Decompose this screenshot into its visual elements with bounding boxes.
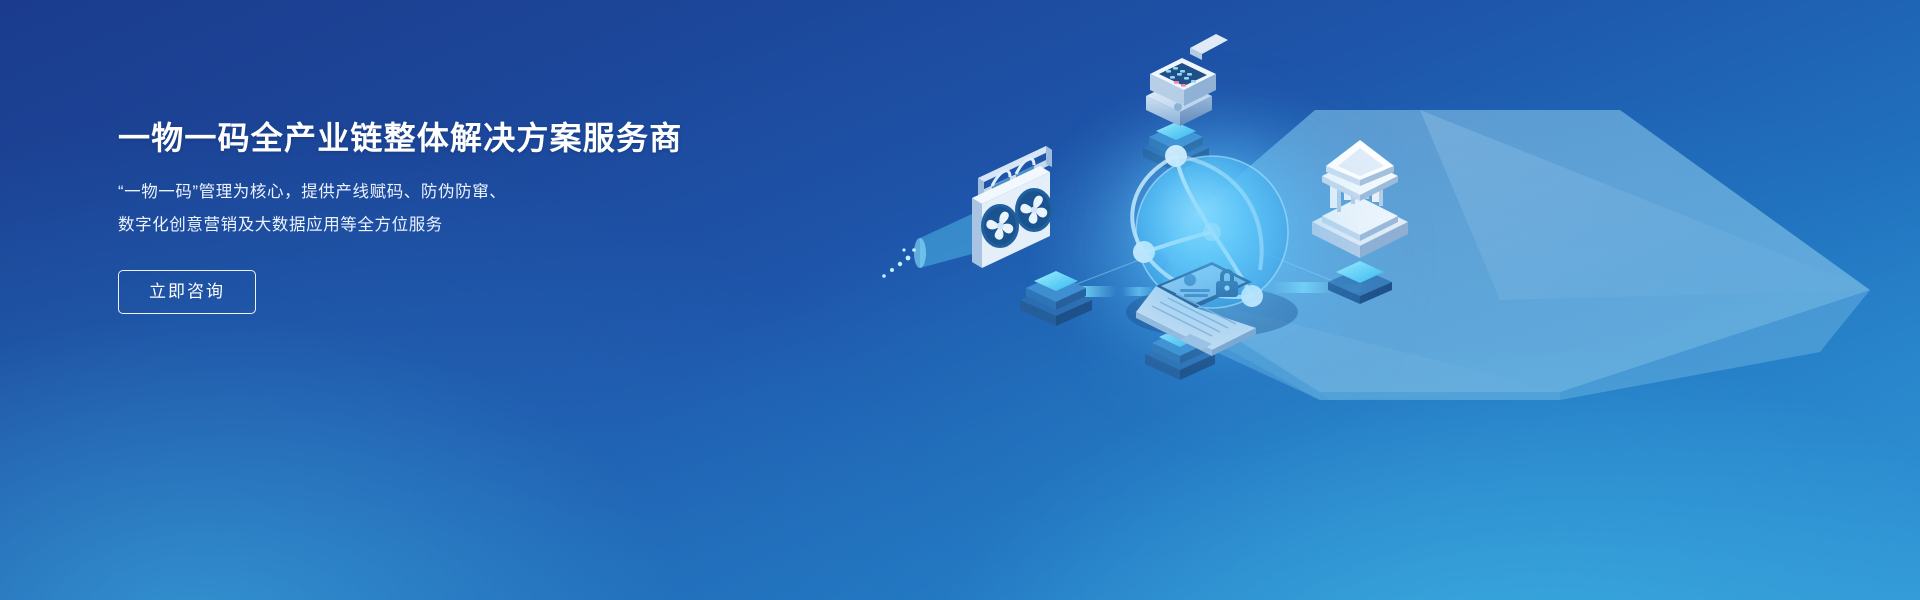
hero-subtitle-line-1: “一物一码”管理为核心，提供产线赋码、防伪防窜、 xyxy=(118,176,738,209)
hero-copy-block: 一物一码全产业链整体解决方案服务商 “一物一码”管理为核心，提供产线赋码、防伪防… xyxy=(118,118,738,314)
hero-illustration xyxy=(860,0,1920,600)
page-title: 一物一码全产业链整体解决方案服务商 xyxy=(118,118,738,158)
hero-subtitle-line-2: 数字化创意营销及大数据应用等全方位服务 xyxy=(118,209,738,242)
isometric-scene-svg xyxy=(860,0,1920,600)
consult-now-button[interactable]: 立即咨询 xyxy=(118,270,256,314)
data-particle-dots xyxy=(882,248,916,278)
hero-banner: 一物一码全产业链整体解决方案服务商 “一物一码”管理为核心，提供产线赋码、防伪防… xyxy=(0,0,1920,600)
hero-subtitle: “一物一码”管理为核心，提供产线赋码、防伪防窜、 数字化创意营销及大数据应用等全… xyxy=(118,176,738,242)
